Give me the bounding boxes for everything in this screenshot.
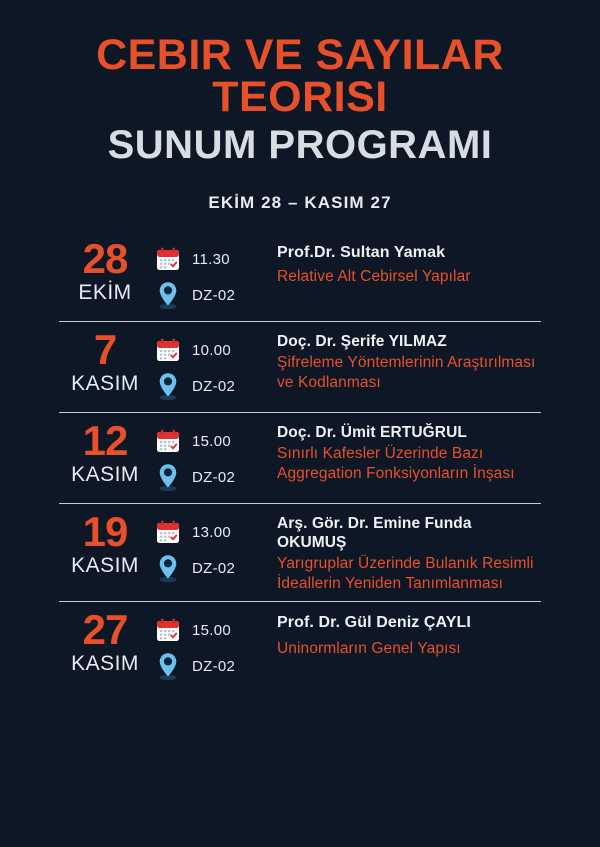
meta-column: 11.30 DZ-02 [151,237,273,313]
location-pin-icon [151,553,185,583]
date-column: 28 EKİM [59,237,151,304]
speaker-name: Doç. Dr. Ümit ERTUĞRUL [277,424,541,443]
room-label: DZ-02 [185,469,235,486]
date-column: 19 KASIM [59,510,151,577]
title-line-2: TEORISI [40,76,560,118]
day-number: 12 [59,421,151,461]
room-row: DZ-02 [151,368,273,404]
date-column: 27 KASIM [59,608,151,675]
topic-title: Şifreleme Yöntemlerinin Araştırılması ve… [277,353,541,392]
date-column: 12 KASIM [59,419,151,486]
room-row: DZ-02 [151,459,273,495]
room-label: DZ-02 [185,378,235,395]
topic-title: Yarıgruplar Üzerinde Bulanık Resimli İde… [277,554,541,593]
schedule-row: 7 KASIM [59,321,541,412]
month-label: KASIM [59,463,151,486]
room-label: DZ-02 [185,287,235,304]
time-row: 13.00 [151,514,273,550]
time-row: 15.00 [151,423,273,459]
day-number: 27 [59,610,151,650]
info-column: Prof. Dr. Gül Deniz ÇAYLI Uninormların G… [273,608,541,658]
meta-column: 13.00 DZ-02 [151,510,273,586]
info-column: Arş. Gör. Dr. Emine Funda OKUMUŞ Yarıgru… [273,510,541,593]
speaker-name: Prof. Dr. Gül Deniz ÇAYLI [277,613,541,633]
room-label: DZ-02 [185,658,235,675]
page-title: CEBIR VE SAYILAR TEORISI [0,34,600,118]
speaker-name: Arş. Gör. Dr. Emine Funda OKUMUŞ [277,515,541,553]
time-row: 11.30 [151,241,273,277]
month-label: KASIM [59,652,151,675]
month-label: EKİM [59,281,151,304]
location-pin-icon [151,280,185,310]
topic-title: Uninormların Genel Yapısı [277,639,541,658]
schedule-row: 28 EKİM [59,231,541,321]
calendar-icon [151,617,185,643]
topic-title: Sınırlı Kafesler Üzerinde Bazı Aggregati… [277,444,541,483]
location-pin-icon [151,462,185,492]
topic-title: Relative Alt Cebirsel Yapılar [277,267,541,286]
room-row: DZ-02 [151,277,273,313]
room-label: DZ-02 [185,560,235,577]
time-row: 10.00 [151,332,273,368]
meta-column: 15.00 DZ-02 [151,419,273,495]
room-row: DZ-02 [151,550,273,586]
date-column: 7 KASIM [59,328,151,395]
page-subtitle: SUNUM PROGRAMI [0,124,600,167]
meta-column: 15.00 DZ-02 [151,608,273,684]
schedule-row: 27 KASIM [59,601,541,692]
day-number: 7 [59,330,151,370]
title-line-1: CEBIR VE SAYILAR [40,34,560,76]
room-row: DZ-02 [151,648,273,684]
poster-header: CEBIR VE SAYILAR TEORISI SUNUM PROGRAMI … [0,0,600,213]
time-label: 11.30 [185,251,230,268]
schedule-list: 28 EKİM [0,231,600,692]
time-label: 13.00 [185,524,231,541]
month-label: KASIM [59,372,151,395]
info-column: Doç. Dr. Şerife YILMAZ Şifreleme Yönteml… [273,328,541,392]
speaker-name: Doç. Dr. Şerife YILMAZ [277,333,541,352]
meta-column: 10.00 DZ-02 [151,328,273,404]
speaker-name: Prof.Dr. Sultan Yamak [277,243,541,263]
location-pin-icon [151,371,185,401]
poster: CEBIR VE SAYILAR TEORISI SUNUM PROGRAMI … [0,0,600,847]
location-pin-icon [151,651,185,681]
calendar-icon [151,428,185,454]
info-column: Doç. Dr. Ümit ERTUĞRUL Sınırlı Kafesler … [273,419,541,483]
time-label: 10.00 [185,342,231,359]
time-label: 15.00 [185,622,231,639]
schedule-row: 19 KASIM [59,503,541,601]
schedule-row: 12 KASIM [59,412,541,503]
day-number: 28 [59,239,151,279]
calendar-icon [151,337,185,363]
calendar-icon [151,519,185,545]
calendar-icon [151,246,185,272]
time-row: 15.00 [151,612,273,648]
month-label: KASIM [59,554,151,577]
day-number: 19 [59,512,151,552]
time-label: 15.00 [185,433,231,450]
date-range: EKİM 28 – KASIM 27 [0,193,600,213]
info-column: Prof.Dr. Sultan Yamak Relative Alt Cebir… [273,237,541,286]
